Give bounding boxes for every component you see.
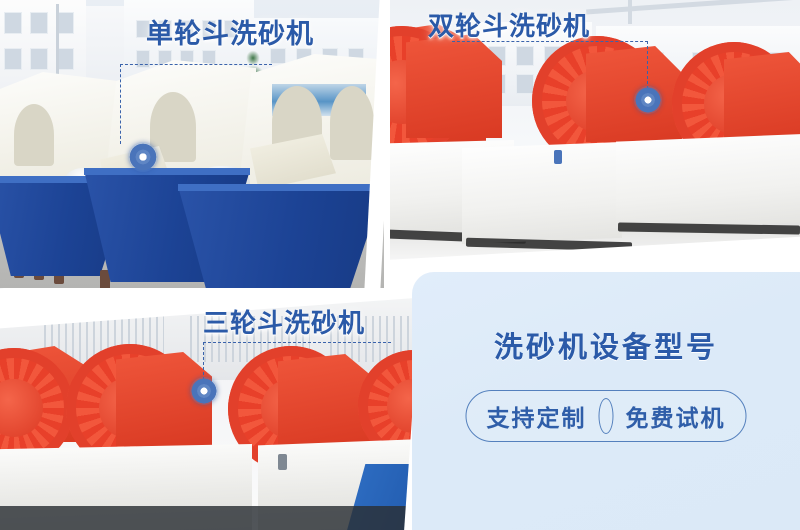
- washer-tank: [616, 134, 800, 230]
- wheel-housing: [330, 86, 374, 160]
- wheel-bucket-assembly: [724, 52, 800, 144]
- ground-shadow: [0, 506, 432, 530]
- callout-line-horizontal: [203, 342, 391, 343]
- product-collage: 洗砂机设备型号 支持定制 免费试机 单轮斗洗砂机 双轮斗洗砂机 三轮斗洗砂机: [0, 0, 800, 530]
- callout-line-vertical: [203, 342, 204, 380]
- lens-divider-icon: [599, 398, 614, 434]
- caption-double-wheel: 双轮斗洗砂机: [428, 6, 590, 43]
- feature-badge-group[interactable]: 支持定制 免费试机: [466, 390, 747, 442]
- wheel-housing: [14, 104, 54, 166]
- callout-line-vertical: [647, 41, 648, 89]
- control-box: [554, 150, 562, 164]
- callout-line-horizontal: [452, 41, 648, 42]
- wheel-bucket-assembly: [406, 34, 502, 138]
- callout-dot-icon: [190, 377, 218, 405]
- caption-single-wheel: 单轮斗洗砂机: [146, 12, 314, 51]
- callout-line-horizontal: [120, 64, 272, 65]
- control-box: [278, 454, 287, 470]
- tower-crane-mast: [628, 0, 632, 24]
- info-card-title: 洗砂机设备型号: [412, 324, 800, 366]
- callout-line-vertical: [120, 64, 121, 144]
- badge-custom-support[interactable]: 支持定制: [487, 399, 587, 433]
- callout-dot-icon: [634, 86, 662, 114]
- info-card: 洗砂机设备型号 支持定制 免费试机: [412, 272, 800, 530]
- washer-tank: [462, 142, 622, 244]
- blue-hopper: [178, 186, 384, 288]
- badge-free-trial[interactable]: 免费试机: [626, 399, 726, 433]
- caption-triple-wheel: 三轮斗洗砂机: [203, 303, 365, 340]
- callout-dot-icon: [128, 142, 158, 172]
